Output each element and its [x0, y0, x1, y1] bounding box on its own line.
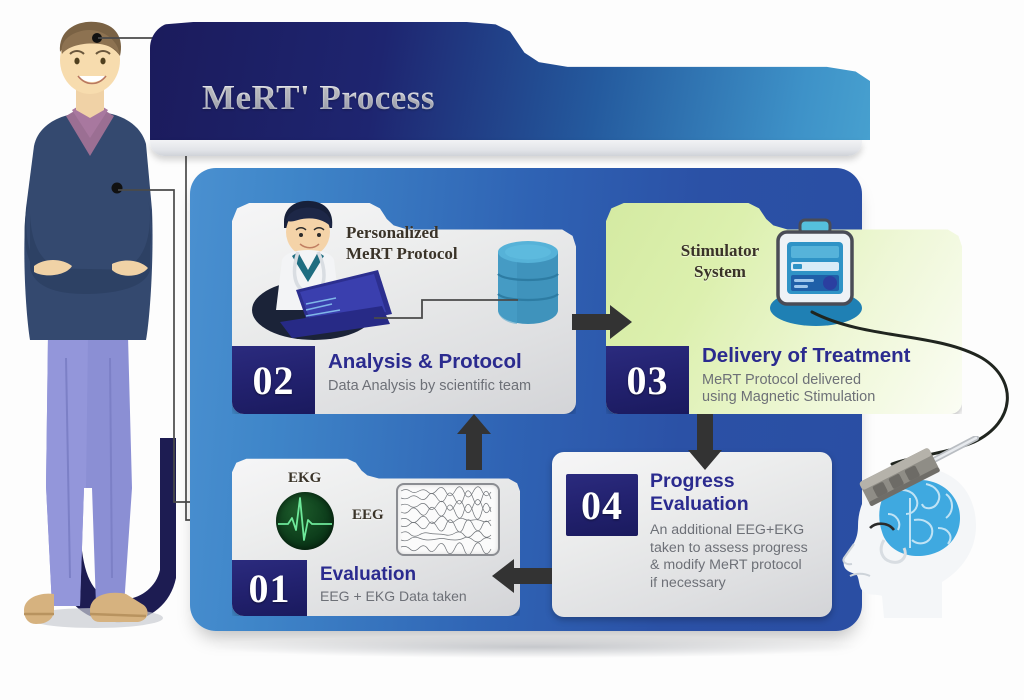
- step-subtitle-04-line3: & modify MeRT protocol: [650, 557, 808, 575]
- step-number-03: 03: [606, 346, 689, 414]
- step-subtitle-02: Data Analysis by scientific team: [328, 378, 531, 394]
- stimulator-system-line1: Stimulator: [670, 240, 770, 261]
- personalized-protocol-line2: MeRT Protocol: [346, 243, 458, 264]
- eeg-readout-panel: [396, 483, 500, 556]
- step-title-01: Evaluation: [320, 564, 416, 586]
- header-banner: MeRT' Process: [150, 22, 870, 140]
- step-card-04[interactable]: 04 Progress Evaluation An additional EEG…: [552, 452, 832, 617]
- step-title-04-line2: Evaluation: [650, 493, 749, 516]
- step-number-01: 01: [232, 560, 307, 616]
- step-number-04: 04: [566, 474, 638, 536]
- step-number-02: 02: [232, 346, 315, 414]
- panel-drop-shadow: [215, 636, 855, 658]
- ekg-label: EKG: [288, 470, 321, 487]
- ekg-monitor-icon: [276, 492, 334, 550]
- step-card-03[interactable]: 03 Delivery of Treatment MeRT Protocol d…: [606, 202, 962, 414]
- step-subtitle-04-line2: taken to assess progress: [650, 540, 808, 558]
- step-subtitle-04-line4: if necessary: [650, 575, 808, 593]
- step-title-04: Progress Evaluation: [650, 470, 749, 516]
- page-title: MeRT' Process: [202, 78, 435, 118]
- step-subtitle-04: An additional EEG+EKG taken to assess pr…: [650, 522, 808, 592]
- step-title-04-line1: Progress: [650, 470, 749, 493]
- arrow-down-icon: [686, 414, 724, 470]
- chest-electrode-dot: [112, 183, 123, 194]
- arrow-up-icon: [455, 414, 493, 470]
- step-subtitle-03-line2: using Magnetic Stimulation: [702, 389, 875, 406]
- personalized-protocol-line1: Personalized: [346, 222, 458, 243]
- arrow-right-icon: [572, 303, 634, 341]
- step-title-03: Delivery of Treatment: [702, 344, 911, 368]
- step-title-02: Analysis & Protocol: [328, 350, 522, 374]
- head-electrode-dot: [92, 33, 102, 43]
- step-subtitle-03: MeRT Protocol delivered using Magnetic S…: [702, 372, 875, 406]
- database-cylinder-icon: [497, 240, 559, 324]
- personalized-protocol-label: Personalized MeRT Protocol: [346, 222, 458, 264]
- step-subtitle-04-line1: An additional EEG+EKG: [650, 522, 808, 540]
- eeg-label: EEG: [352, 507, 384, 524]
- step-subtitle-01: EEG + EKG Data taken: [320, 588, 467, 604]
- stimulator-system-line2: System: [670, 261, 770, 282]
- header-shelf: [150, 140, 862, 156]
- infographic-canvas: MeRT' Process 02 Analysis & Protocol Dat…: [0, 0, 1024, 700]
- step-subtitle-03-line1: MeRT Protocol delivered: [702, 372, 875, 389]
- arrow-left-icon: [490, 557, 552, 595]
- stimulator-system-label: Stimulator System: [670, 240, 770, 282]
